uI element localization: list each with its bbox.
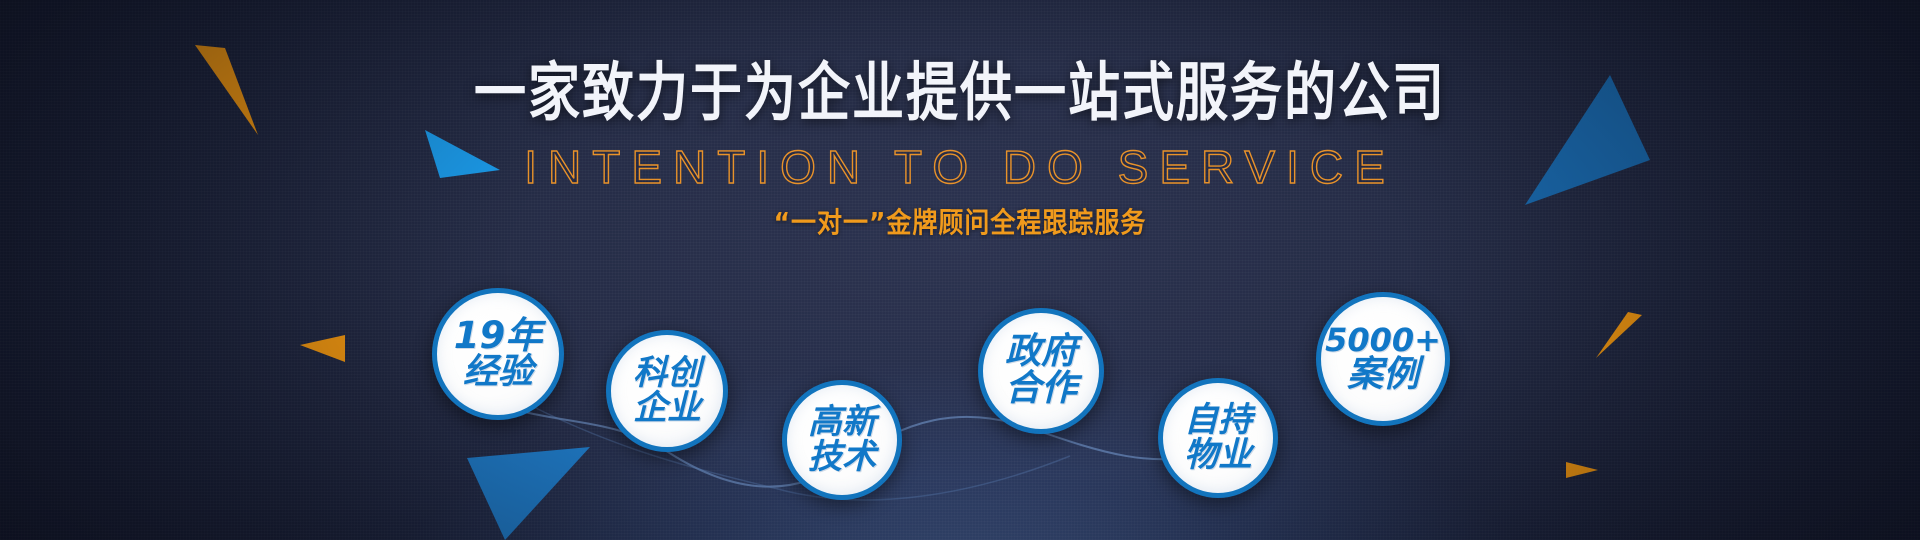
- bubble-19-years[interactable]: 19年经验: [432, 288, 564, 420]
- bubble-line-1: 政府: [1005, 334, 1077, 371]
- bubble-line-1: 自持: [1184, 403, 1252, 438]
- bubble-tech-startup[interactable]: 科创企业: [606, 330, 728, 452]
- bubble-line-2: 合作: [1005, 371, 1077, 408]
- bubble-line-1: 19年: [454, 317, 543, 355]
- bubble-line-2: 案例: [1347, 357, 1419, 394]
- bubble-line-1: 科创: [633, 356, 701, 391]
- bubble-5000-cases[interactable]: 5000+案例: [1316, 292, 1450, 426]
- bubble-line-2: 物业: [1184, 438, 1252, 473]
- bubble-high-tech[interactable]: 高新技术: [782, 380, 902, 500]
- bubble-gov-coop[interactable]: 政府合作: [978, 308, 1104, 434]
- feature-bubble-group: 19年经验科创企业高新技术政府合作自持物业5000+案例: [0, 0, 1920, 540]
- bubble-line-2: 经验: [463, 355, 533, 391]
- hero-banner: 一家致力于为企业提供一站式服务的公司 INTENTION TO DO SERVI…: [0, 0, 1920, 540]
- bubble-line-1: 5000+: [1325, 324, 1441, 357]
- bubble-line-2: 技术: [808, 440, 876, 475]
- bubble-own-property[interactable]: 自持物业: [1158, 378, 1278, 498]
- bubble-line-2: 企业: [633, 391, 701, 426]
- bubble-line-1: 高新: [808, 405, 876, 440]
